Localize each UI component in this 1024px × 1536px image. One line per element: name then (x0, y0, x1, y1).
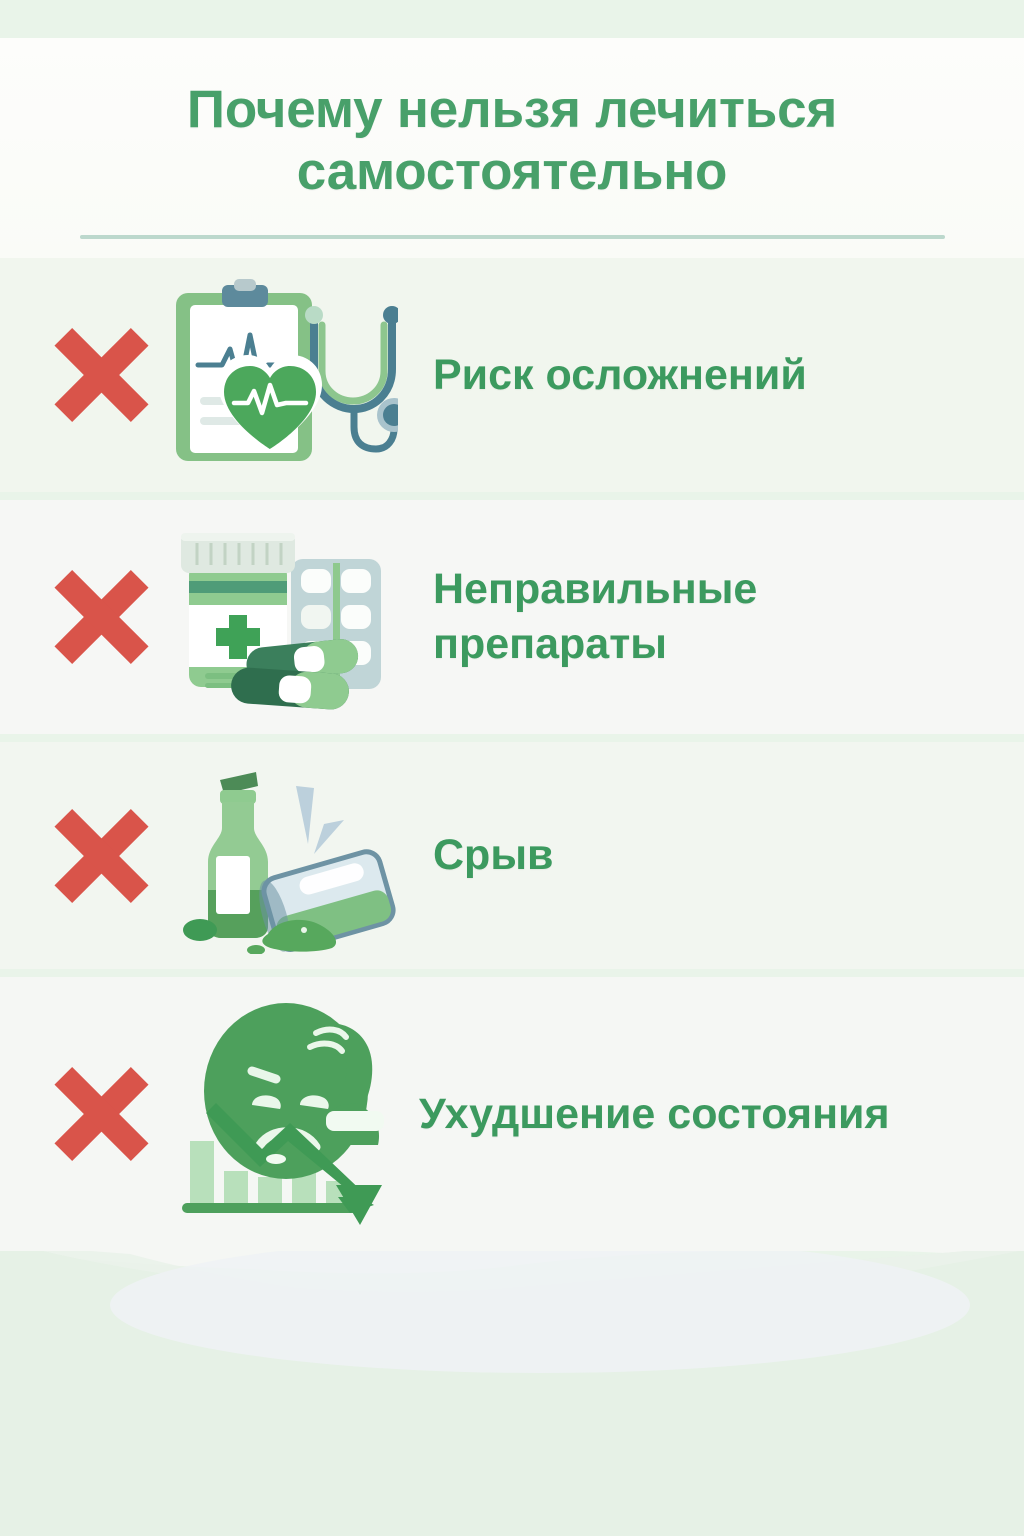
clipboard-heart-stethoscope-icon (162, 277, 398, 473)
label-line-1: Неправильные (433, 562, 1024, 617)
red-x-icon (53, 1066, 149, 1162)
label-line-1: Ухудшение состояния (419, 1087, 1024, 1142)
red-x-icon (53, 808, 149, 904)
page-title-line-2: самостоятельно (62, 142, 962, 202)
page-title-line-1: Почему нельзя лечиться (62, 80, 962, 140)
list-item: Ухудшение состояния (0, 977, 1024, 1251)
list-item: Риск осложнений (0, 258, 1024, 492)
page-title: Почему нельзя лечиться самостоятельно (62, 80, 962, 203)
red-x-icon (53, 569, 149, 665)
icon-slot (155, 977, 405, 1251)
label-line-1: Срыв (433, 828, 1024, 883)
list-item-label: Ухудшение состояния (405, 1087, 1024, 1142)
list-item-label: Неправильные препараты (405, 562, 1024, 671)
icon-slot (155, 500, 405, 734)
red-x-icon (53, 327, 149, 423)
list-item-label: Риск осложнений (405, 348, 1024, 403)
bottle-spilled-glass-icon (164, 758, 396, 954)
infographic-poster: Почему нельзя лечиться самостоятельно (0, 0, 1024, 1536)
label-line-1: Риск осложнений (433, 348, 1024, 403)
label-line-2: препараты (433, 617, 1024, 672)
list-item: Неправильные препараты (0, 500, 1024, 734)
poster-header: Почему нельзя лечиться самостоятельно (0, 38, 1024, 258)
icon-slot (155, 258, 405, 492)
list-item-label: Срыв (405, 828, 1024, 883)
pill-bottle-blister-capsules-icon (165, 519, 395, 715)
worried-face-declining-chart-icon (160, 999, 400, 1229)
header-divider (80, 235, 945, 239)
list-item: Срыв (0, 742, 1024, 969)
reasons-list: Риск осложнений (0, 258, 1024, 1259)
icon-slot (155, 742, 405, 969)
